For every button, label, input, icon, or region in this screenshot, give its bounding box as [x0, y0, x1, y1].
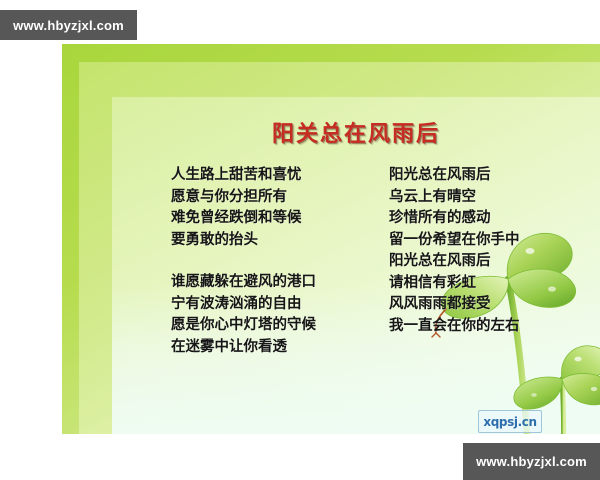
- lyric-line: 我一直会在你的左右: [389, 316, 520, 338]
- lyrics-right-column: 阳光总在风雨后 乌云上有晴空 珍惜所有的感动 留一份希望在你手中 阳光总在风雨后…: [389, 165, 520, 337]
- lyric-line: 谁愿藏躲在避风的港口: [171, 272, 316, 294]
- slide-content-area: 阳关总在风雨后 人生路上甜苦和喜忧 愿意与你分担所有 难免曾经跌倒和等候 要勇敢…: [112, 97, 600, 434]
- lyric-line: 风风雨雨都接受: [389, 294, 520, 316]
- watermark-top-text: www.hbyzjxl.com: [13, 18, 124, 33]
- slide-frame-inner-border: 阳关总在风雨后 人生路上甜苦和喜忧 愿意与你分担所有 难免曾经跌倒和等候 要勇敢…: [79, 62, 600, 434]
- lyric-line: 乌云上有晴空: [389, 187, 520, 209]
- lyric-line: 愿是你心中灯塔的守候: [171, 315, 316, 337]
- slide-title: 阳关总在风雨后: [112, 116, 600, 148]
- site-logo-watermark: xqpsj.cn: [478, 410, 542, 433]
- lyric-line: 留一份希望在你手中: [389, 230, 520, 252]
- site-logo-text: xqpsj.cn: [483, 415, 536, 429]
- lyric-line: 愿意与你分担所有: [171, 187, 316, 209]
- lyric-line: 人生路上甜苦和喜忧: [171, 165, 316, 187]
- lyric-line: 珍惜所有的感动: [389, 208, 520, 230]
- lyric-line: 请相信有彩虹: [389, 273, 520, 295]
- lyrics-stanza: 人生路上甜苦和喜忧 愿意与你分担所有 难免曾经跌倒和等候 要勇敢的抬头: [171, 165, 316, 251]
- watermark-bottom-bar: www.hbyzjxl.com: [463, 443, 600, 480]
- lyric-line: 阳光总在风雨后: [389, 165, 520, 187]
- lyric-line: 阳光总在风雨后: [389, 251, 520, 273]
- lyric-line: 在迷雾中让你看透: [171, 337, 316, 359]
- lyrics-stanza: 谁愿藏躲在避风的港口 宁有波涛汹涌的自由 愿是你心中灯塔的守候 在迷雾中让你看透: [171, 272, 316, 358]
- lyric-line: 宁有波涛汹涌的自由: [171, 294, 316, 316]
- lyrics-stanza: 阳光总在风雨后 乌云上有晴空 珍惜所有的感动 留一份希望在你手中 阳光总在风雨后…: [389, 165, 520, 337]
- watermark-top-bar: www.hbyzjxl.com: [0, 10, 137, 40]
- lyric-line: 要勇敢的抬头: [171, 230, 316, 252]
- lyrics-left-column: 人生路上甜苦和喜忧 愿意与你分担所有 难免曾经跌倒和等候 要勇敢的抬头 谁愿藏躲…: [171, 165, 316, 358]
- watermark-bottom-text: www.hbyzjxl.com: [476, 454, 587, 469]
- lyric-line: 难免曾经跌倒和等候: [171, 208, 316, 230]
- slide-frame: 阳关总在风雨后 人生路上甜苦和喜忧 愿意与你分担所有 难免曾经跌倒和等候 要勇敢…: [62, 44, 600, 434]
